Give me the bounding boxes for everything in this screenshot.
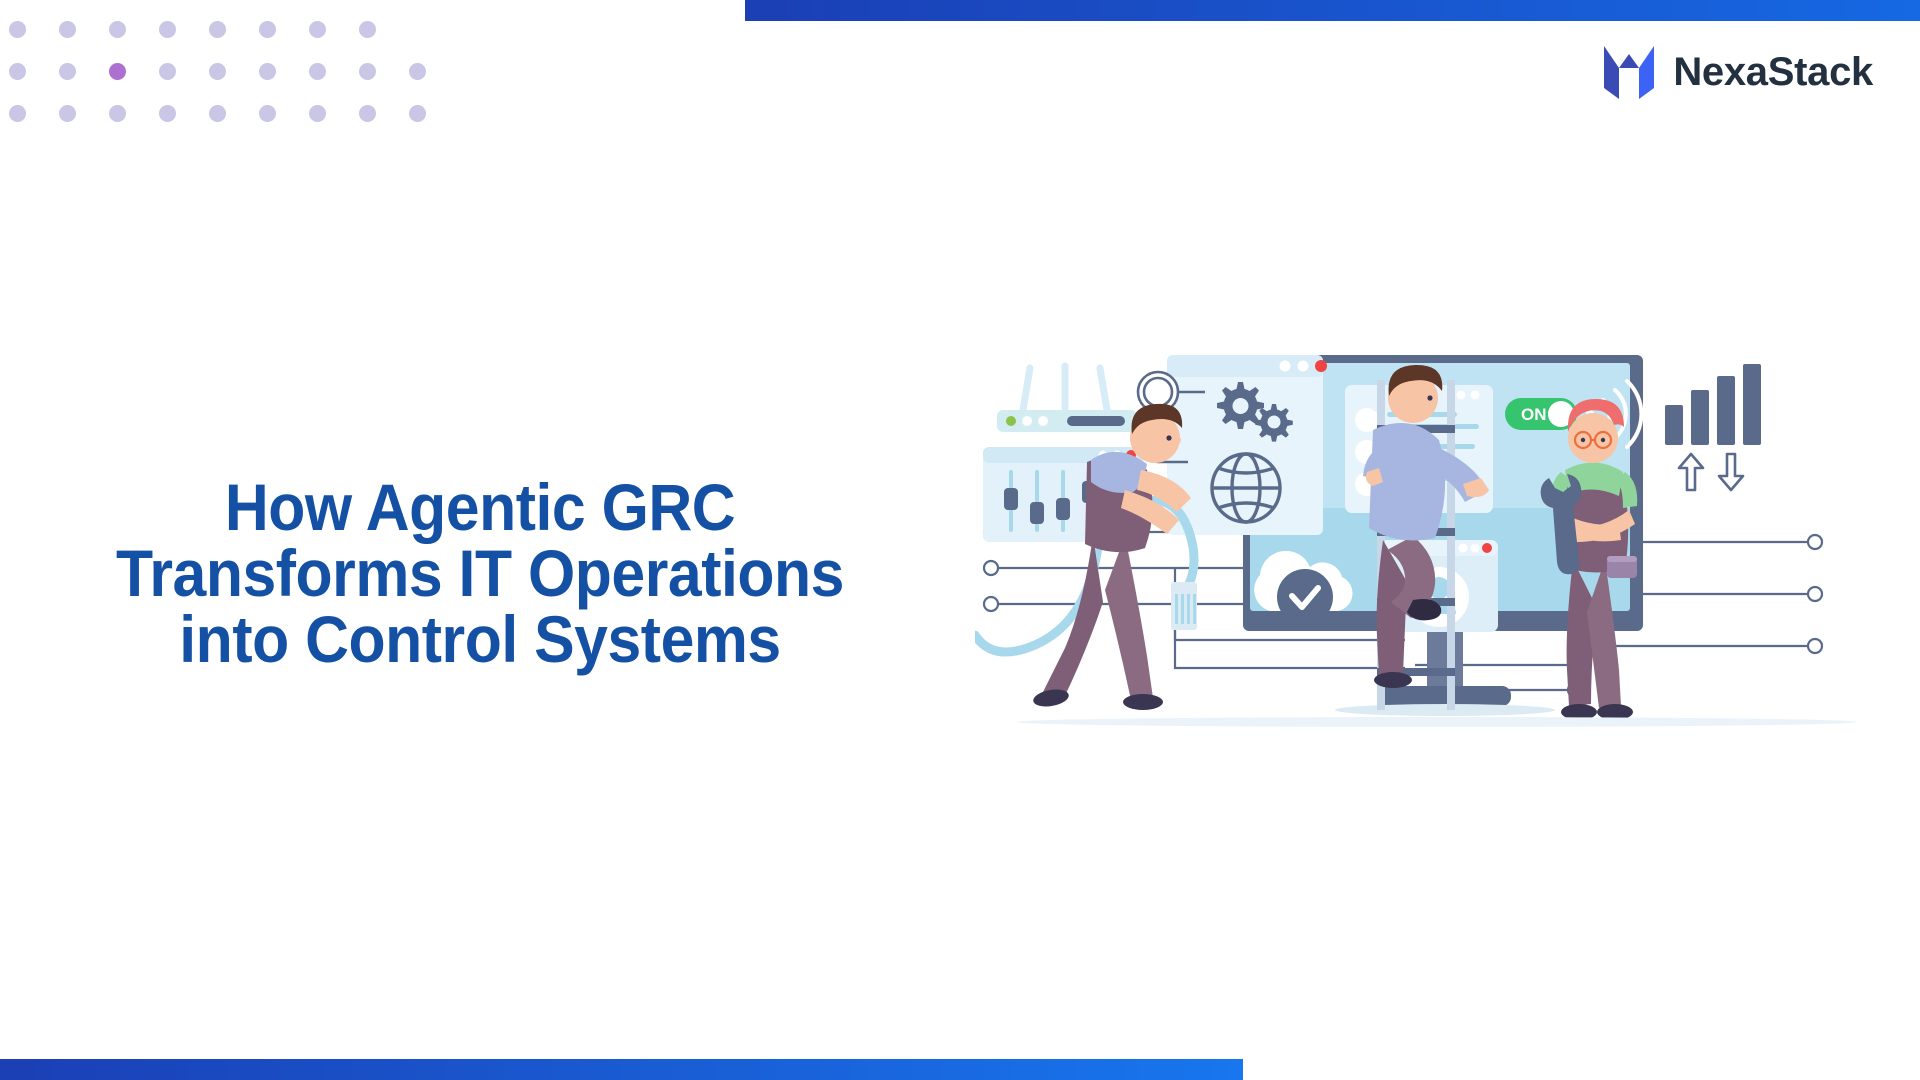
dot (259, 63, 276, 80)
wifi-router-icon (997, 366, 1137, 432)
dot (59, 63, 76, 80)
dot (159, 63, 176, 80)
dot (9, 105, 26, 122)
dot (9, 21, 26, 38)
dot-grid-row (9, 8, 459, 50)
bar-chart-icon (1665, 364, 1761, 445)
check-circle-icon (1277, 569, 1333, 625)
dot (309, 21, 326, 38)
dot (409, 105, 426, 122)
dot (309, 105, 326, 122)
accent-dot (109, 63, 126, 80)
page-title-line-2: Transforms IT Operations (75, 540, 885, 606)
dot (259, 105, 276, 122)
dot-grid-row (9, 92, 459, 134)
dot (109, 105, 126, 122)
dot (259, 21, 276, 38)
page-title: How Agentic GRC Transforms IT Operations… (75, 474, 885, 672)
dot (9, 63, 26, 80)
toggle-label: ON (1521, 405, 1547, 424)
cable-connector (1171, 582, 1197, 630)
top-accent-bar (745, 0, 1920, 21)
on-toggle-switch: ON (1505, 398, 1577, 430)
brand-logo[interactable]: NexaStack (1603, 44, 1873, 100)
up-arrow-icon (1679, 454, 1703, 490)
dot (109, 21, 126, 38)
brand-name: NexaStack (1673, 52, 1873, 92)
dot (159, 105, 176, 122)
down-arrow-icon (1719, 454, 1743, 490)
dot (359, 21, 376, 38)
dot (59, 105, 76, 122)
page-title-line-1: How Agentic GRC (75, 474, 885, 540)
dot (59, 21, 76, 38)
dot (209, 63, 226, 80)
dot (409, 63, 426, 80)
gears-globe-window (1167, 355, 1327, 535)
dot (359, 105, 376, 122)
decorative-dot-grid (9, 8, 459, 134)
slide-canvas: NexaStack How Agentic GRC Transforms IT … (0, 0, 1920, 1080)
page-title-line-3: into Control Systems (75, 606, 885, 672)
dot-grid-row (9, 50, 459, 92)
dot (209, 21, 226, 38)
nexastack-logo-icon (1603, 44, 1655, 100)
dot (309, 63, 326, 80)
dot (159, 21, 176, 38)
bottom-accent-bar (0, 1059, 1243, 1080)
dot (209, 105, 226, 122)
hero-illustration: ON (975, 350, 1900, 780)
dot (359, 63, 376, 80)
